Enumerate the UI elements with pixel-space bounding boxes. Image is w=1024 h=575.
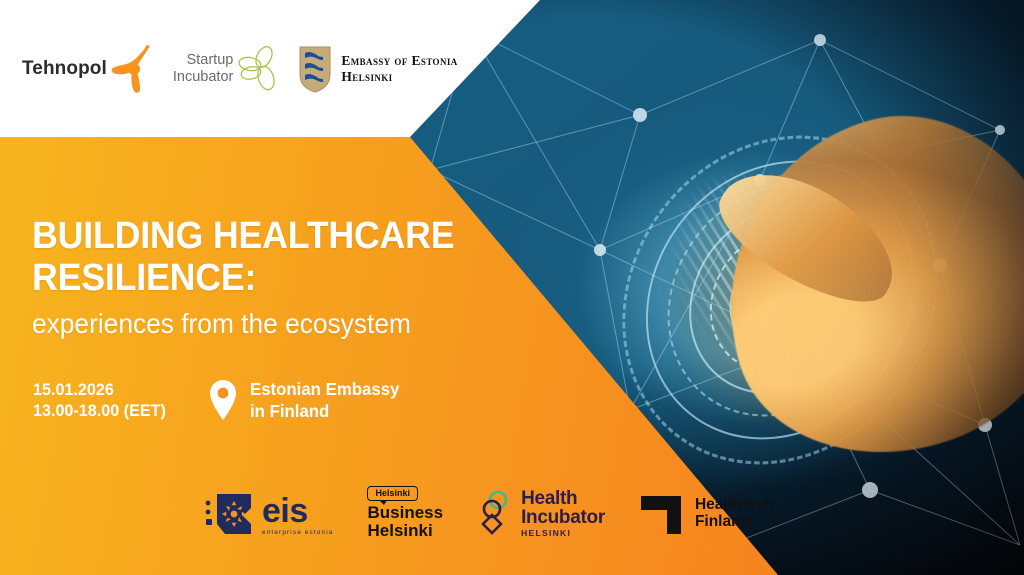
embassy-line1: Embassy of Estonia <box>341 53 457 69</box>
logo-healthtech-finland[interactable]: Healthtech Finland <box>639 490 774 536</box>
headline-line-2: RESILIENCE: <box>32 258 474 300</box>
incubator-line2: Incubator <box>173 69 233 86</box>
header-logo-row: Tehnopol Startup Incubator <box>0 0 540 137</box>
logo-health-incubator-helsinki[interactable]: Health Incubator HELSINKI <box>477 489 605 538</box>
date-time-block: 15.01.2026 13.00-18.00 (EET) <box>33 379 199 423</box>
event-date: 15.01.2026 <box>33 379 199 401</box>
healthtech-finland-line2: Finland <box>695 513 774 530</box>
incubator-text: Startup Incubator <box>173 52 233 85</box>
embassy-line2: Helsinki <box>341 69 457 85</box>
tehnopol-tripod-icon <box>109 44 155 94</box>
headline-block: BUILDING HEALTHCARE RESILIENCE: experien… <box>32 216 502 340</box>
venue-line-1: Estonian Embassy <box>250 378 399 400</box>
event-details: 15.01.2026 13.00-18.00 (EET) Estonian Em… <box>33 378 406 423</box>
embassy-text: Embassy of Estonia Helsinki <box>341 53 457 85</box>
venue-block: Estonian Embassy in Finland <box>250 378 399 423</box>
eis-tagline: enterprise estonia <box>262 529 333 536</box>
incubator-clover-icon <box>236 45 280 93</box>
subheadline: experiences from the ecosystem <box>32 308 474 340</box>
partner-logo-row: eis enterprise estonia Helsinki Business… <box>205 486 774 541</box>
logo-tehnopol[interactable]: Tehnopol <box>22 44 155 94</box>
business-helsinki-text: Business Helsinki <box>367 504 443 541</box>
logo-business-helsinki[interactable]: Helsinki Business Helsinki <box>367 486 443 541</box>
business-helsinki-line2: Helsinki <box>367 522 443 540</box>
event-time: 13.00-18.00 (EET) <box>33 400 199 422</box>
event-poster: Tehnopol Startup Incubator <box>0 0 1024 575</box>
logo-startup-incubator[interactable]: Startup Incubator <box>173 45 280 93</box>
healthtech-finland-text: Healthtech Finland <box>695 496 774 531</box>
health-incubator-loop-icon <box>477 489 515 537</box>
health-incubator-city: HELSINKI <box>521 529 605 538</box>
health-incubator-line2: Incubator <box>521 508 605 527</box>
estonia-coat-of-arms-icon <box>298 45 332 93</box>
venue-line-2: in Finland <box>250 400 399 422</box>
eis-wordmark: eis <box>262 498 308 526</box>
health-incubator-text: Health Incubator HELSINKI <box>521 489 605 538</box>
business-helsinki-line1: Business <box>367 504 443 522</box>
tehnopol-wordmark: Tehnopol <box>22 58 107 80</box>
eis-text: eis enterprise estonia <box>262 498 333 536</box>
headline-line-1: BUILDING HEALTHCARE <box>32 216 474 258</box>
eis-pentagon-pattern-icon <box>205 490 257 536</box>
map-pin-icon <box>208 379 238 421</box>
logo-embassy-of-estonia[interactable]: Embassy of Estonia Helsinki <box>298 45 457 93</box>
helsinki-chip-label: Helsinki <box>367 486 418 501</box>
incubator-line1: Startup <box>173 52 233 69</box>
health-incubator-line1: Health <box>521 489 605 508</box>
healthtech-finland-corner-icon <box>639 490 685 536</box>
healthtech-finland-line1: Healthtech <box>695 496 774 513</box>
logo-eis[interactable]: eis enterprise estonia <box>205 490 333 536</box>
